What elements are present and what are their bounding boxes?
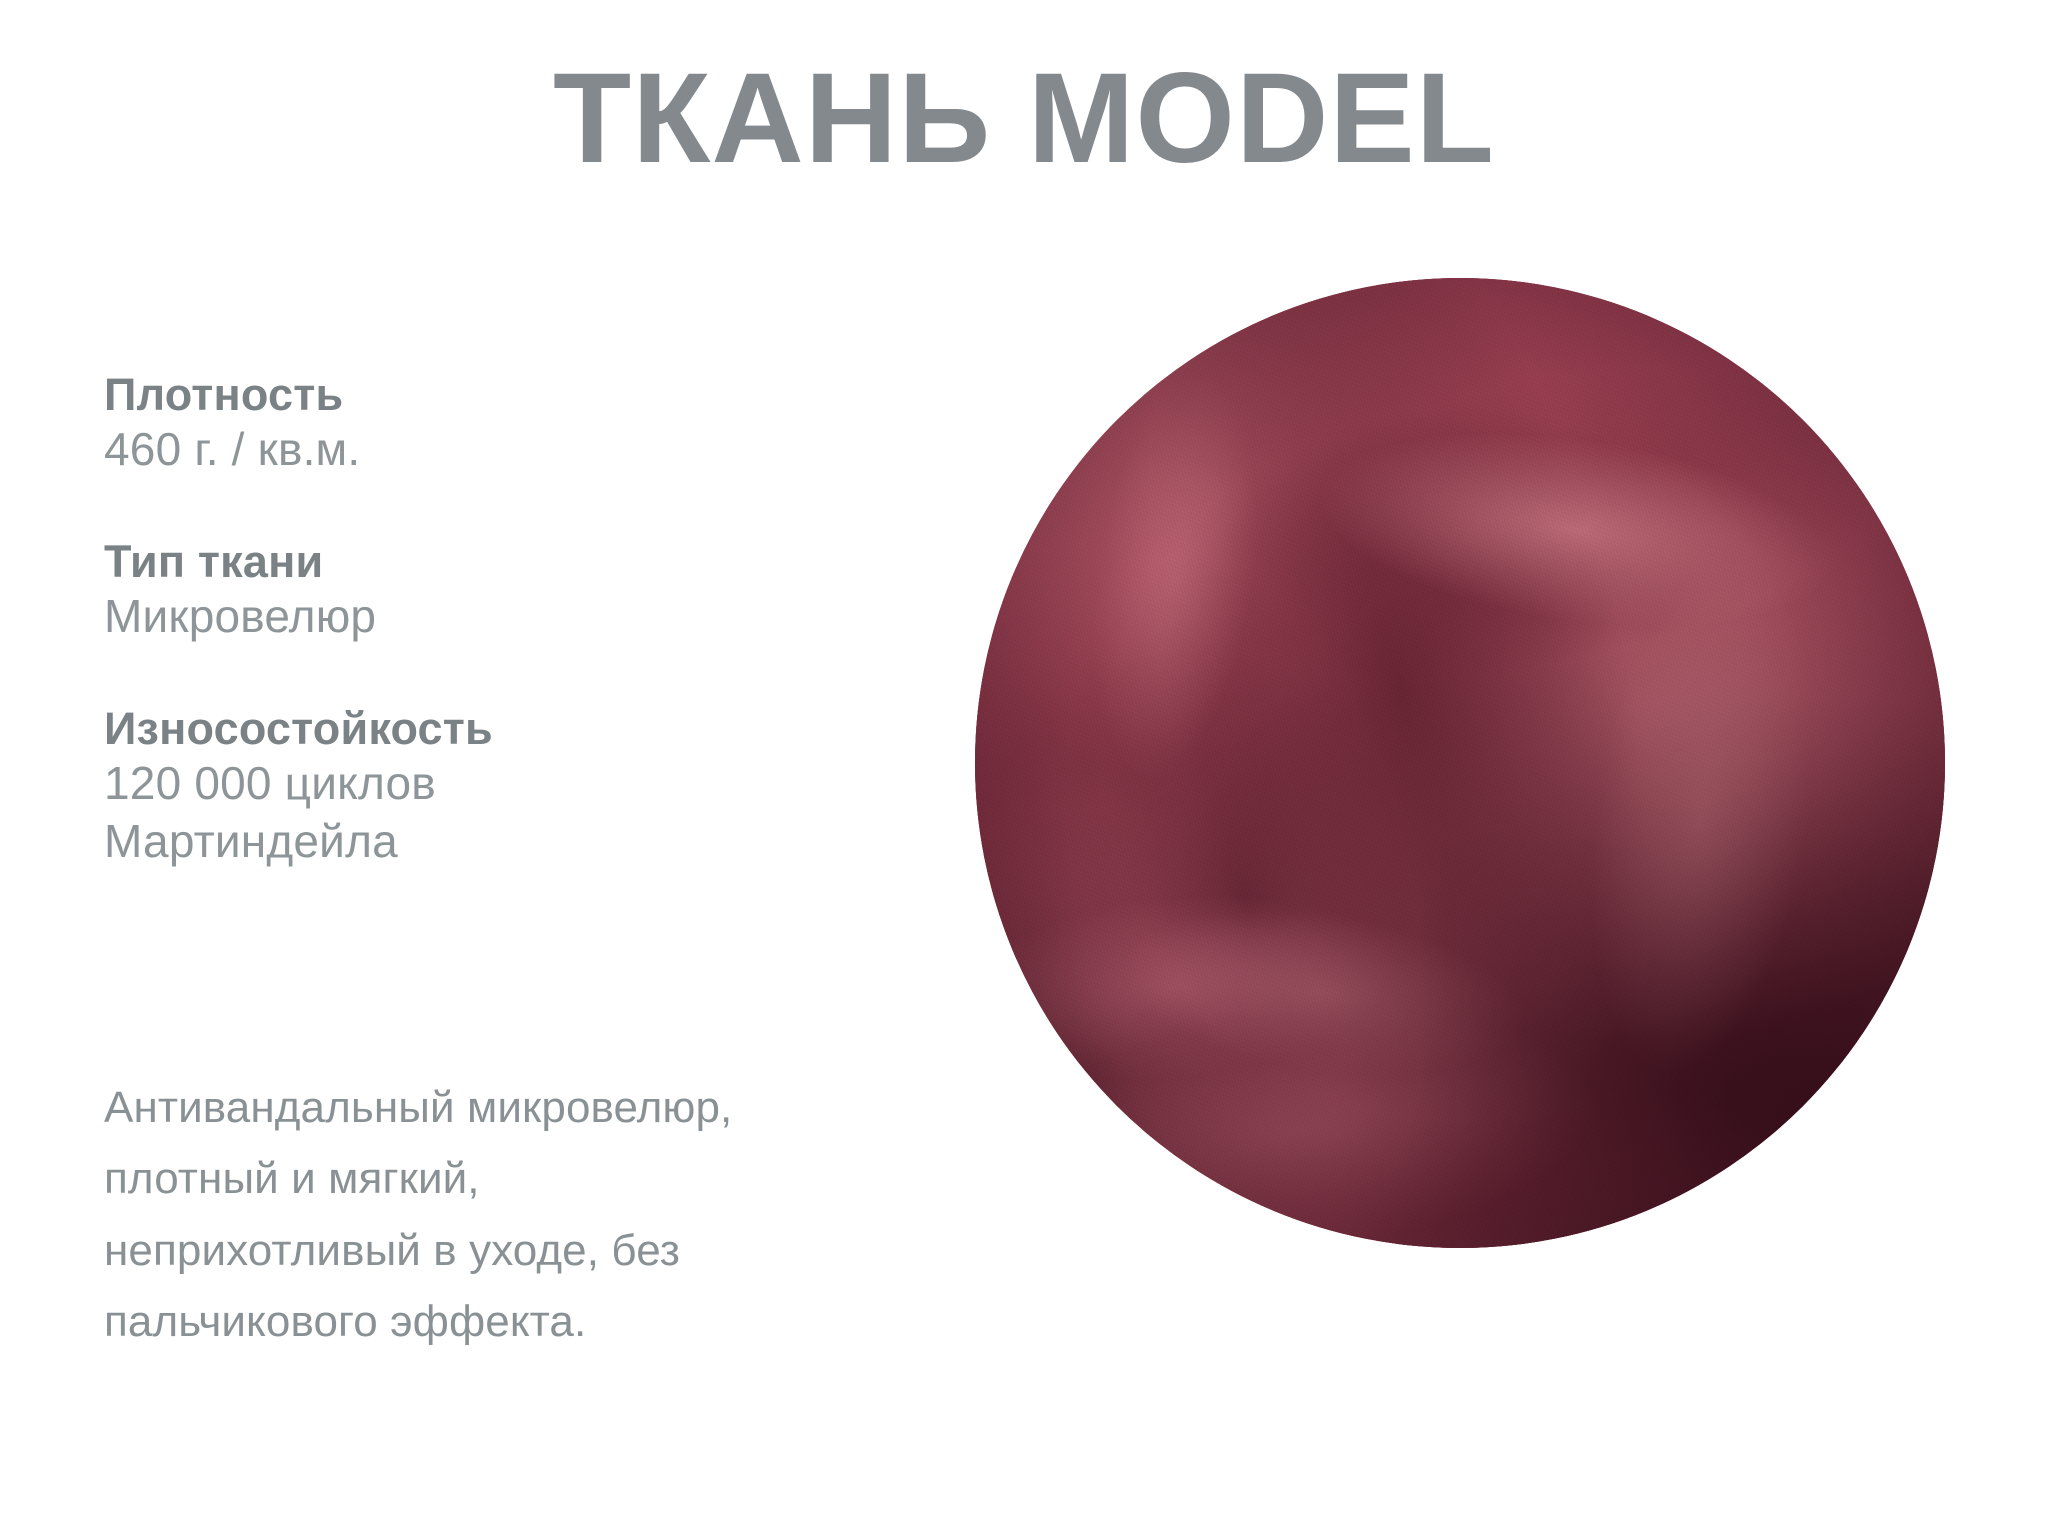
description-paragraph: Антивандальный микровелюр, плотный и мяг… xyxy=(104,1072,1004,1357)
description-line-3: неприхотливый в уходе, без xyxy=(104,1215,1004,1286)
spec-density: Плотность 460 г. / кв.м. xyxy=(104,368,924,479)
spec-density-value: 460 г. / кв.м. xyxy=(104,421,924,479)
spec-abrasion-resistance: Износостойкость 120 000 циклов Мартиндей… xyxy=(104,702,924,871)
fabric-spec-slide: ТКАНЬ MODEL Плотность 460 г. / кв.м. Тип… xyxy=(0,0,2048,1536)
fabric-swatch-circle xyxy=(975,278,1945,1248)
page-title: ТКАНЬ MODEL xyxy=(0,52,2048,186)
spec-abrasion-resistance-value-line1: 120 000 циклов xyxy=(104,755,924,813)
description-line-1: Антивандальный микровелюр, xyxy=(104,1072,1004,1143)
description-line-2: плотный и мягкий, xyxy=(104,1143,1004,1214)
spec-density-label: Плотность xyxy=(104,368,924,421)
fabric-vignette xyxy=(975,278,1945,1248)
specs-list: Плотность 460 г. / кв.м. Тип ткани Микро… xyxy=(104,368,924,871)
spec-abrasion-resistance-value-line2: Мартиндейла xyxy=(104,813,924,871)
spec-fabric-type-value: Микровелюр xyxy=(104,588,924,646)
spec-abrasion-resistance-label: Износостойкость xyxy=(104,702,924,755)
description-line-4: пальчикового эффекта. xyxy=(104,1286,1004,1357)
spec-fabric-type-label: Тип ткани xyxy=(104,535,924,588)
spec-fabric-type: Тип ткани Микровелюр xyxy=(104,535,924,646)
